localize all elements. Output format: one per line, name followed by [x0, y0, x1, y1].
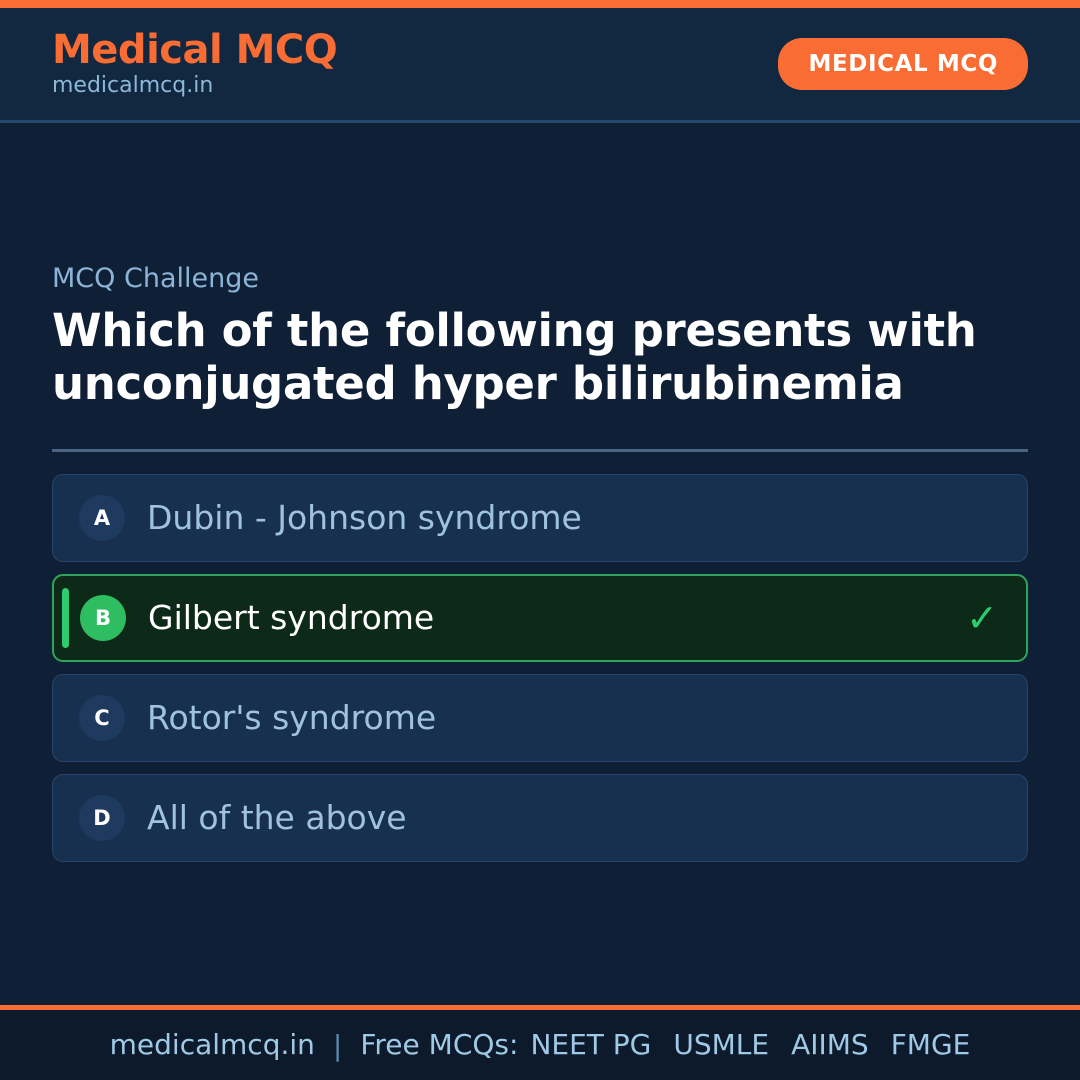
top-accent-bar — [0, 0, 1080, 8]
option-label: Rotor's syndrome — [147, 698, 436, 738]
check-icon: ✓ — [966, 599, 1002, 637]
brand-block: Medical MCQ medicalmcq.in — [52, 29, 337, 98]
question-divider — [52, 449, 1028, 452]
question-zone: MCQ Challenge Which of the following pre… — [52, 263, 1028, 411]
footer-separator: | — [315, 1029, 360, 1062]
option-letter-badge: B — [80, 595, 126, 641]
question-text: Which of the following presents with unc… — [52, 305, 992, 410]
footer-exam-list: NEET PG USMLE AIIMS FMGE — [530, 1031, 970, 1059]
option-letter-badge: C — [79, 695, 125, 741]
correct-accent-bar — [62, 588, 69, 648]
option-b[interactable]: B Gilbert syndrome ✓ — [52, 574, 1028, 662]
option-letter-badge: A — [79, 495, 125, 541]
options-list: A Dubin - Johnson syndrome B Gilbert syn… — [52, 474, 1028, 862]
option-label: All of the above — [147, 798, 407, 838]
footer-exam-aiims[interactable]: AIIMS — [791, 1031, 869, 1059]
page-header: Medical MCQ medicalmcq.in MEDICAL MCQ — [0, 8, 1080, 120]
brand-title: Medical MCQ — [52, 29, 337, 71]
footer-exam-fmge[interactable]: FMGE — [891, 1031, 971, 1059]
footer-exam-usmle[interactable]: USMLE — [673, 1031, 769, 1059]
footer-bar: medicalmcq.in | Free MCQs: NEET PG USMLE… — [0, 1010, 1080, 1080]
footer-site-link[interactable]: medicalmcq.in — [110, 1031, 315, 1059]
option-c[interactable]: C Rotor's syndrome — [52, 674, 1028, 762]
option-d[interactable]: D All of the above — [52, 774, 1028, 862]
option-label: Gilbert syndrome — [148, 598, 434, 638]
page-footer: medicalmcq.in | Free MCQs: NEET PG USMLE… — [0, 1005, 1080, 1080]
footer-label: Free MCQs: — [360, 1031, 518, 1059]
option-label: Dubin - Johnson syndrome — [147, 498, 582, 538]
footer-exam-neetpg[interactable]: NEET PG — [530, 1031, 651, 1059]
brand-subtitle: medicalmcq.in — [52, 73, 337, 98]
main-content: MCQ Challenge Which of the following pre… — [0, 123, 1080, 1005]
mcq-challenge-label: MCQ Challenge — [52, 263, 1028, 295]
option-letter-badge: D — [79, 795, 125, 841]
option-a[interactable]: A Dubin - Johnson syndrome — [52, 474, 1028, 562]
header-badge[interactable]: MEDICAL MCQ — [778, 38, 1028, 90]
